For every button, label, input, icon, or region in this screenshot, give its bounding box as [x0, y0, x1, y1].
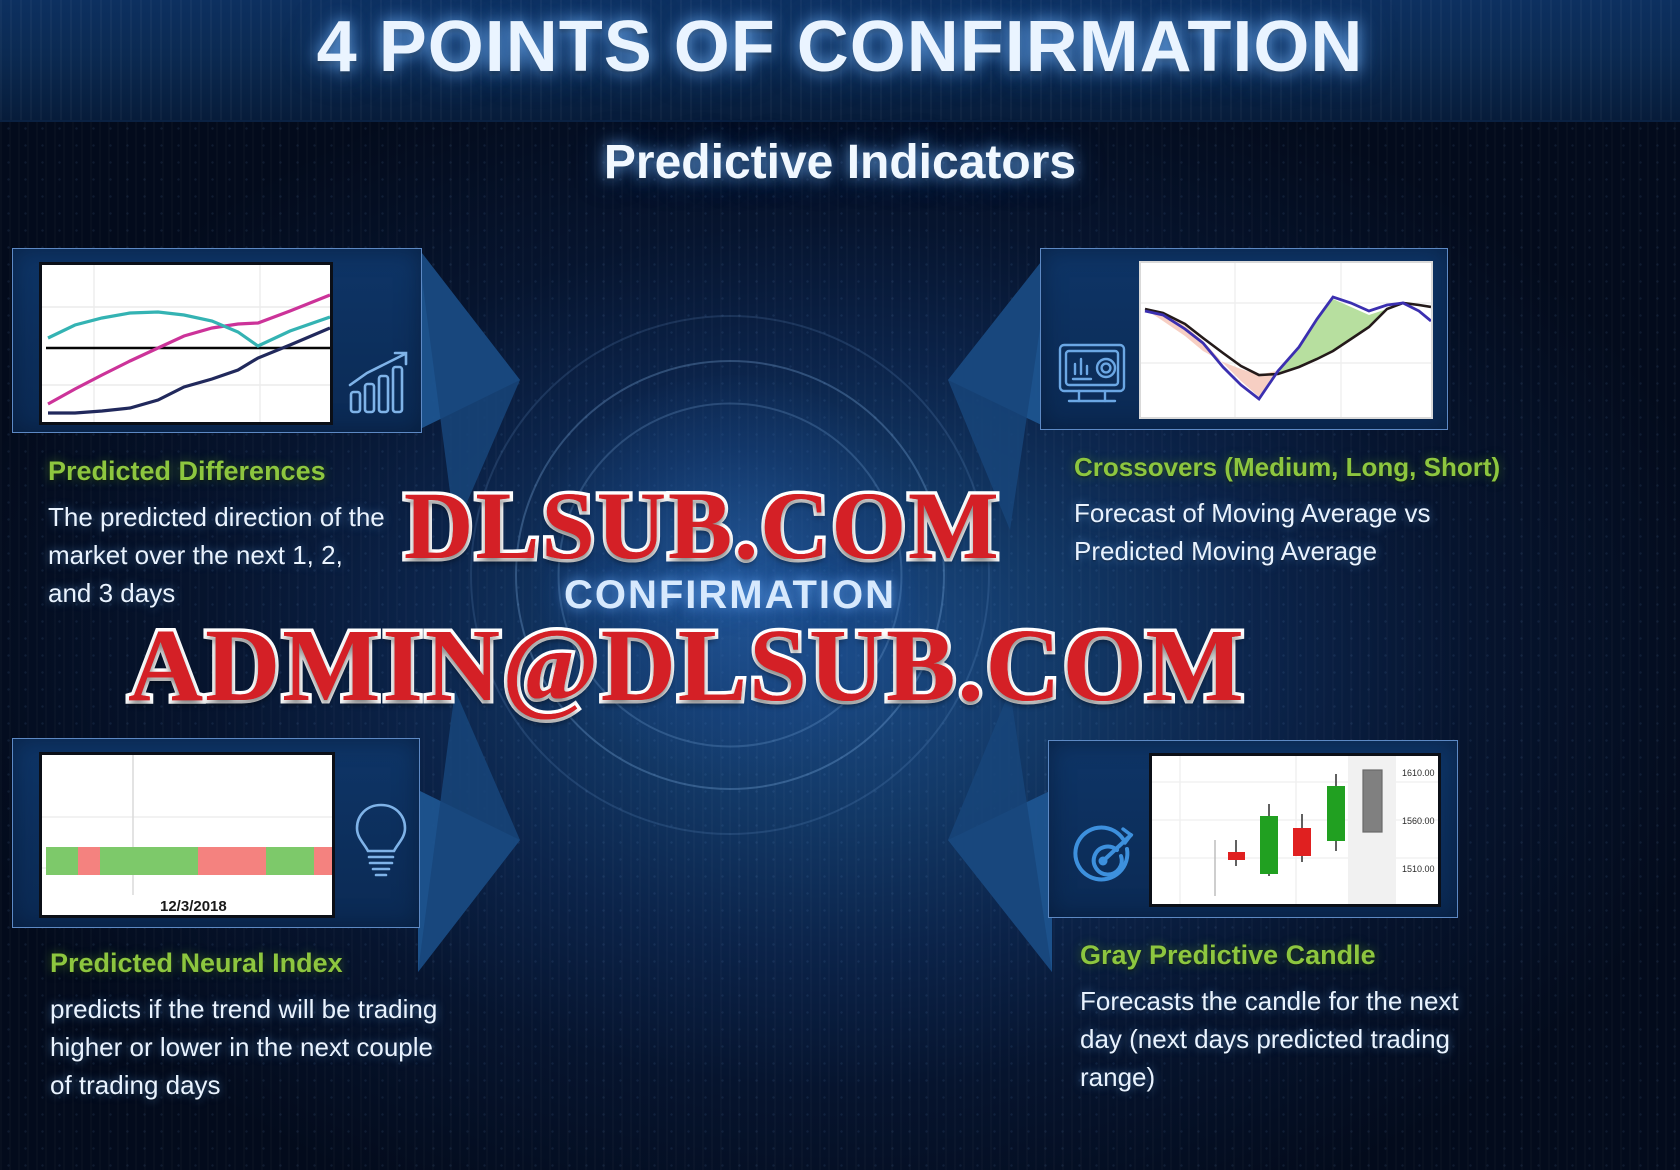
card-predicted-differences[interactable]: Predicted Differences The predicted dire… — [12, 248, 422, 613]
card-predicted-neural-index[interactable]: 12/3/2018 Predicted Neural Index predict… — [12, 738, 427, 1105]
price-label-low: 1510.00 — [1402, 864, 1435, 874]
predicted-neural-index-panel: 12/3/2018 — [12, 738, 420, 928]
card-gray-predictive-candle[interactable]: 1610.00 1560.00 1510.00 Gray Predictive … — [1048, 740, 1468, 1097]
predicted-differences-panel — [12, 248, 422, 433]
predicted-neural-index-chart: 12/3/2018 — [39, 752, 335, 918]
predicted-neural-index-title: Predicted Neural Index — [50, 948, 427, 979]
gray-predictive-candle-panel: 1610.00 1560.00 1510.00 — [1048, 740, 1458, 918]
watermark-domain: DLSUB.COM — [404, 470, 1001, 581]
gray-predictive-candle-body: Forecasts the candle for the next day (n… — [1080, 983, 1470, 1097]
monitor-chart-icon — [1055, 339, 1131, 411]
slide-canvas: 4 POINTS OF CONFIRMATION Predictive Indi… — [0, 0, 1680, 1170]
neural-index-band — [46, 847, 334, 875]
crossover-area-svg — [1141, 263, 1433, 419]
watermark-email: ADMIN@DLSUB.COM — [128, 606, 1246, 725]
crossovers-body: Forecast of Moving Average vs Predicted … — [1074, 495, 1454, 571]
price-label-high: 1610.00 — [1402, 768, 1435, 778]
neural-index-svg: 12/3/2018 — [42, 755, 335, 918]
line-chart-svg — [42, 265, 333, 425]
crossovers-panel — [1040, 248, 1448, 430]
gray-predictive-candle-title: Gray Predictive Candle — [1080, 940, 1468, 971]
gray-predictive-candle-chart: 1610.00 1560.00 1510.00 — [1149, 753, 1441, 907]
bar-chart-up-arrow-icon — [343, 345, 415, 417]
page-subtitle: Predictive Indicators — [0, 135, 1680, 190]
candlestick-svg: 1610.00 1560.00 1510.00 — [1152, 756, 1441, 907]
lightbulb-icon — [347, 799, 415, 883]
card-crossovers[interactable]: Crossovers (Medium, Long, Short) Forecas… — [1040, 248, 1455, 571]
neural-index-date-label: 12/3/2018 — [160, 898, 227, 915]
crossovers-title: Crossovers (Medium, Long, Short) — [1074, 452, 1455, 483]
crossovers-chart — [1139, 261, 1433, 419]
predicted-neural-index-body: predicts if the trend will be trading hi… — [50, 991, 440, 1105]
page-title: 4 POINTS OF CONFIRMATION — [0, 6, 1680, 88]
target-dart-icon — [1067, 823, 1141, 897]
candle-5-forecast — [1363, 770, 1382, 832]
predicted-differences-chart — [39, 262, 333, 425]
predicted-differences-body: The predicted direction of the market ov… — [48, 499, 388, 613]
predicted-differences-title: Predicted Differences — [48, 456, 422, 487]
price-label-mid: 1560.00 — [1402, 816, 1435, 826]
